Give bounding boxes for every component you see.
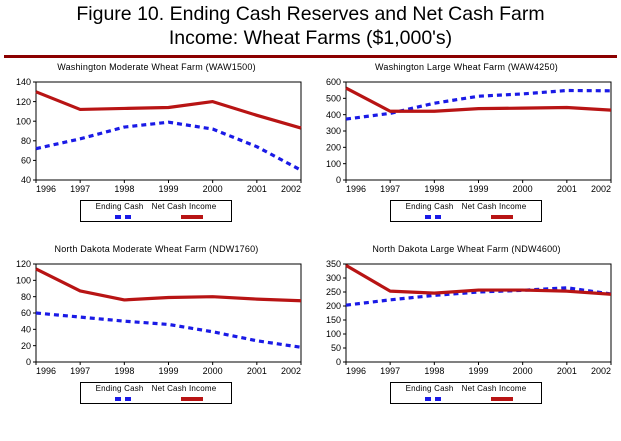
x-tick-label: 1998 [114,184,134,194]
plot-frame [346,82,611,180]
y-tick-label: 200 [326,143,341,153]
x-tick-label: 1996 [36,366,56,376]
x-tick-label: 1999 [158,184,178,194]
y-tick-label: 600 [326,77,341,87]
x-tick-label: 1997 [380,366,400,376]
legend-ndw1760: Ending CashNet Cash Income [80,382,232,404]
y-tick-label: 40 [21,175,31,185]
x-tick-label: 1998 [424,184,444,194]
x-tick-label: 1999 [468,184,488,194]
chart-title-ndw1760: North Dakota Moderate Wheat Farm (NDW176… [4,244,309,254]
y-tick-label: 200 [326,301,341,311]
x-tick-label: 1999 [158,366,178,376]
x-tick-label: 1996 [346,366,366,376]
x-tick-label: 1998 [114,366,134,376]
figure-title-line-1: Figure 10. Ending Cash Reserves and Net … [0,2,621,26]
legend-ndw4600: Ending CashNet Cash Income [390,382,542,404]
plot-area-waw4250: 0100200300400500600199619971998199920002… [314,76,619,196]
x-tick-label: 1997 [70,184,90,194]
x-tick-label: 2000 [203,184,223,194]
y-tick-label: 300 [326,126,341,136]
plot-frame [36,82,301,180]
y-tick-label: 0 [336,357,341,367]
legend-label-net-cash-income: Net Cash Income [462,384,527,393]
legend-keys [391,213,541,221]
x-tick-label: 2001 [247,366,267,376]
legend-label-net-cash-income: Net Cash Income [152,384,217,393]
legend-keys [391,395,541,403]
chart-title-waw1500: Washington Moderate Wheat Farm (WAW1500) [4,62,309,72]
y-tick-label: 100 [16,116,31,126]
chart-svg-ndw1760: 0204060801001201996199719981999200020012… [4,258,309,378]
x-tick-label: 2002 [591,366,611,376]
chart-svg-waw1500: 4060801001201401996199719981999200020012… [4,76,309,196]
x-tick-label: 2001 [557,366,577,376]
chart-panel-waw4250: Washington Large Wheat Farm (WAW4250) 01… [314,62,619,237]
legend-waw4250: Ending CashNet Cash Income [390,200,542,222]
legend-label-net-cash-income: Net Cash Income [152,202,217,211]
legend-label-ending-cash: Ending Cash [96,202,144,211]
y-tick-label: 140 [16,77,31,87]
legend-labels: Ending CashNet Cash Income [81,384,231,393]
x-tick-label: 1996 [36,184,56,194]
x-tick-label: 2000 [513,366,533,376]
x-tick-label: 1999 [468,366,488,376]
chart-title-waw4250: Washington Large Wheat Farm (WAW4250) [314,62,619,72]
x-tick-label: 2002 [281,184,301,194]
y-tick-label: 120 [16,259,31,269]
x-tick-label: 2000 [513,184,533,194]
chart-svg-waw4250: 0100200300400500600199619971998199920002… [314,76,619,196]
y-tick-label: 120 [16,97,31,107]
chart-panel-waw1500: Washington Moderate Wheat Farm (WAW1500)… [4,62,309,237]
figure-title: Figure 10. Ending Cash Reserves and Net … [0,2,621,50]
x-tick-label: 2002 [591,184,611,194]
legend-keys [81,395,231,403]
figure-page: Figure 10. Ending Cash Reserves and Net … [0,0,621,441]
y-tick-label: 100 [16,276,31,286]
legend-label-ending-cash: Ending Cash [406,384,454,393]
plot-area-waw1500: 4060801001201401996199719981999200020012… [4,76,309,196]
legend-key-ending-cash-icon [115,397,133,401]
y-tick-label: 0 [26,357,31,367]
y-tick-label: 20 [21,341,31,351]
plot-area-ndw1760: 0204060801001201996199719981999200020012… [4,258,309,378]
x-tick-label: 2002 [281,366,301,376]
plot-area-ndw4600: 0501001502002503003501996199719981999200… [314,258,619,378]
y-tick-label: 100 [326,159,341,169]
legend-waw1500: Ending CashNet Cash Income [80,200,232,222]
y-tick-label: 100 [326,329,341,339]
legend-labels: Ending CashNet Cash Income [391,202,541,211]
x-tick-label: 1998 [424,366,444,376]
legend-key-net-cash-income-icon [181,215,203,219]
x-tick-label: 2001 [557,184,577,194]
legend-label-ending-cash: Ending Cash [96,384,144,393]
legend-key-net-cash-income-icon [491,397,513,401]
legend-labels: Ending CashNet Cash Income [391,384,541,393]
x-tick-label: 1997 [70,366,90,376]
title-divider-rule [4,55,617,58]
legend-key-ending-cash-icon [425,215,443,219]
y-tick-label: 80 [21,136,31,146]
y-tick-label: 50 [331,343,341,353]
chart-panel-ndw1760: North Dakota Moderate Wheat Farm (NDW176… [4,244,309,419]
x-tick-label: 2001 [247,184,267,194]
y-tick-label: 60 [21,308,31,318]
legend-key-ending-cash-icon [115,215,133,219]
legend-label-net-cash-income: Net Cash Income [462,202,527,211]
legend-key-ending-cash-icon [425,397,443,401]
figure-title-line-2: Income: Wheat Farms ($1,000's) [0,26,621,50]
y-tick-label: 300 [326,273,341,283]
legend-key-net-cash-income-icon [181,397,203,401]
y-tick-label: 150 [326,315,341,325]
legend-keys [81,213,231,221]
x-tick-label: 1996 [346,184,366,194]
y-tick-label: 0 [336,175,341,185]
y-tick-label: 500 [326,94,341,104]
y-tick-label: 40 [21,325,31,335]
y-tick-label: 80 [21,292,31,302]
legend-labels: Ending CashNet Cash Income [81,202,231,211]
y-tick-label: 60 [21,156,31,166]
y-tick-label: 400 [326,110,341,120]
chart-title-ndw4600: North Dakota Large Wheat Farm (NDW4600) [314,244,619,254]
legend-label-ending-cash: Ending Cash [406,202,454,211]
y-tick-label: 350 [326,259,341,269]
legend-key-net-cash-income-icon [491,215,513,219]
x-tick-label: 2000 [203,366,223,376]
x-tick-label: 1997 [380,184,400,194]
y-tick-label: 250 [326,287,341,297]
chart-panel-ndw4600: North Dakota Large Wheat Farm (NDW4600) … [314,244,619,419]
chart-svg-ndw4600: 0501001502002503003501996199719981999200… [314,258,619,378]
plot-frame [36,264,301,362]
plot-frame [346,264,611,362]
